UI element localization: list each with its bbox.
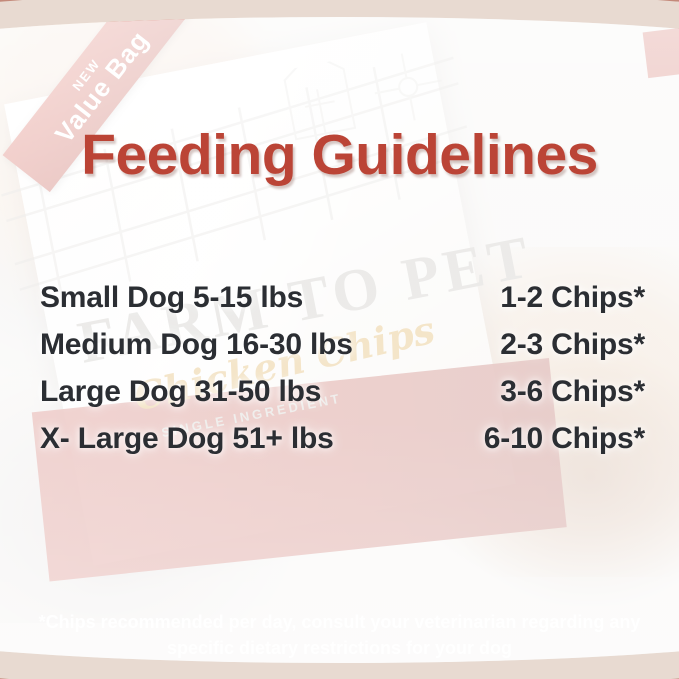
dog-size-label: Medium Dog 16-30 lbs bbox=[40, 328, 353, 362]
feeding-guidelines-list: Small Dog 5-15 lbs 1-2 Chips* Medium Dog… bbox=[40, 281, 645, 469]
page-title: Feeding Guidelines bbox=[0, 122, 679, 188]
chips-amount-value: 2-3 Chips* bbox=[500, 328, 645, 362]
dotted-leader bbox=[346, 447, 472, 448]
list-item: Medium Dog 16-30 lbs 2-3 Chips* bbox=[40, 328, 645, 375]
list-item: X- Large Dog 51+ lbs 6-10 Chips* bbox=[40, 422, 645, 469]
poster-content: Feeding Guidelines Small Dog 5-15 lbs 1-… bbox=[0, 0, 679, 679]
chips-amount-value: 6-10 Chips* bbox=[484, 422, 645, 456]
chips-amount-value: 3-6 Chips* bbox=[500, 375, 645, 409]
list-item: Large Dog 31-50 lbs 3-6 Chips* bbox=[40, 375, 645, 422]
chips-amount-value: 1-2 Chips* bbox=[500, 281, 645, 315]
list-item: Small Dog 5-15 lbs 1-2 Chips* bbox=[40, 281, 645, 328]
dog-size-label: X- Large Dog 51+ lbs bbox=[40, 422, 334, 456]
footer-disclaimer-text: *Chips recommended per day, consult your… bbox=[25, 610, 655, 661]
feeding-guidelines-poster: FARM TO PET Chicken Chips SINGLE INGREDI… bbox=[0, 0, 679, 679]
dotted-leader bbox=[333, 400, 488, 401]
dog-size-label: Large Dog 31-50 lbs bbox=[40, 375, 321, 409]
dotted-leader bbox=[315, 306, 488, 307]
dog-size-label: Small Dog 5-15 lbs bbox=[40, 281, 303, 315]
footer-disclaimer: *Chips recommended per day, consult your… bbox=[0, 593, 679, 679]
dotted-leader bbox=[365, 353, 489, 354]
